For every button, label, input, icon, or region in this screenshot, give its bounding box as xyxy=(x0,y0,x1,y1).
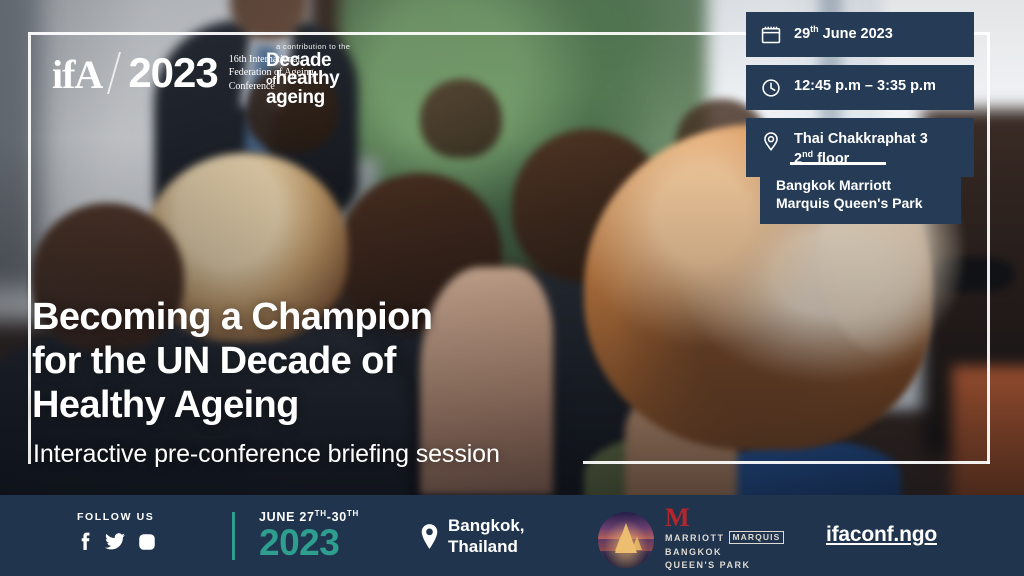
twitter-icon[interactable] xyxy=(105,533,125,550)
social-links xyxy=(77,532,156,551)
venue-hotel-line-2: Marquis Queen's Park xyxy=(776,194,947,212)
decade-wordmark: Decade ofhealthy ageing xyxy=(266,52,370,107)
frame-border-right xyxy=(987,32,990,464)
calendar-icon xyxy=(760,24,782,46)
headline-line-3: Healthy Ageing xyxy=(32,383,432,427)
page-title: Becoming a Champion for the UN Decade of… xyxy=(32,295,432,427)
footer-divider xyxy=(232,512,235,560)
bangkok-temple-photo xyxy=(598,512,654,568)
headline-line-2: for the UN Decade of xyxy=(32,339,432,383)
location-pin-icon xyxy=(760,130,782,152)
follow-us-block: FOLLOW US xyxy=(77,511,156,551)
hotel-brand-marriott: MARRIOTT xyxy=(665,533,725,543)
dates-sup-start: TH xyxy=(315,509,327,518)
dates-sup-end: TH xyxy=(347,509,359,518)
footer-bar: FOLLOW US JUNE 27TH-30TH xyxy=(0,495,1024,576)
date-text: 29th June 2023 xyxy=(794,23,893,44)
decade-of-healthy-ageing-logo: a contribution to the Decade ofhealthy a… xyxy=(266,42,370,107)
temple-photo-glow xyxy=(598,512,654,568)
conference-year: 2023 xyxy=(259,524,359,562)
date-card: 29th June 2023 xyxy=(746,12,974,57)
page-subtitle: Interactive pre-conference briefing sess… xyxy=(33,440,500,469)
decade-of-word: of xyxy=(266,75,276,87)
instagram-icon[interactable] xyxy=(138,533,156,551)
location-pin-icon xyxy=(420,524,439,549)
clock-icon xyxy=(760,77,782,99)
website-url[interactable]: ifaconf.ngo xyxy=(826,523,937,547)
location-city: Bangkok, xyxy=(448,516,525,537)
conference-dates-block: JUNE 27TH-30TH 2023 xyxy=(259,509,359,562)
venue-divider-rule xyxy=(790,162,886,165)
time-card: 12:45 p.m – 3:35 p.m xyxy=(746,65,974,110)
hotel-name-row: MARRIOTT MARQUIS xyxy=(665,531,784,544)
venue-room: Thai Chakkraphat 3 xyxy=(794,131,928,147)
headline-line-1: Becoming a Champion xyxy=(32,295,432,339)
time-text: 12:45 p.m – 3:35 p.m xyxy=(794,76,936,96)
hotel-wordmark: M MARRIOTT MARQUIS BANGKOK QUEEN'S PARK xyxy=(665,508,784,572)
hotel-city: BANGKOK xyxy=(665,546,784,559)
facebook-icon[interactable] xyxy=(77,532,92,551)
ifa-logo-mark: ifA xyxy=(52,55,102,95)
date-day: 29 xyxy=(794,26,810,42)
venue-hotel-line-1: Bangkok Marriott xyxy=(776,176,947,194)
location-block: Bangkok, Thailand xyxy=(420,516,525,557)
date-day-suffix: th xyxy=(810,24,819,34)
location-text: Bangkok, Thailand xyxy=(448,516,525,557)
marriott-m-icon: M xyxy=(665,508,784,528)
venue-floor-suffix: nd xyxy=(802,149,813,159)
follow-us-label: FOLLOW US xyxy=(77,511,156,523)
event-poster: ifA 2023 16th International Federation o… xyxy=(0,0,1024,576)
decade-line-3: ageing xyxy=(266,89,370,107)
hotel-property: QUEEN'S PARK xyxy=(665,559,784,572)
frame-border-left xyxy=(28,32,31,464)
logo-slash-divider xyxy=(107,52,121,94)
location-country: Thailand xyxy=(448,537,525,558)
event-info-cards: 29th June 2023 12:45 p.m – 3:35 p.m Thai… xyxy=(746,12,974,185)
frame-border-bottom xyxy=(583,461,990,464)
hotel-sponsor-logo: M MARRIOTT MARQUIS BANGKOK QUEEN'S PARK xyxy=(598,508,784,572)
hotel-brand-marquis: MARQUIS xyxy=(729,531,785,544)
venue-hotel-card: Bangkok Marriott Marquis Queen's Park xyxy=(760,167,961,224)
logo-year: 2023 xyxy=(128,52,217,94)
date-month-year: June 2023 xyxy=(819,26,893,42)
